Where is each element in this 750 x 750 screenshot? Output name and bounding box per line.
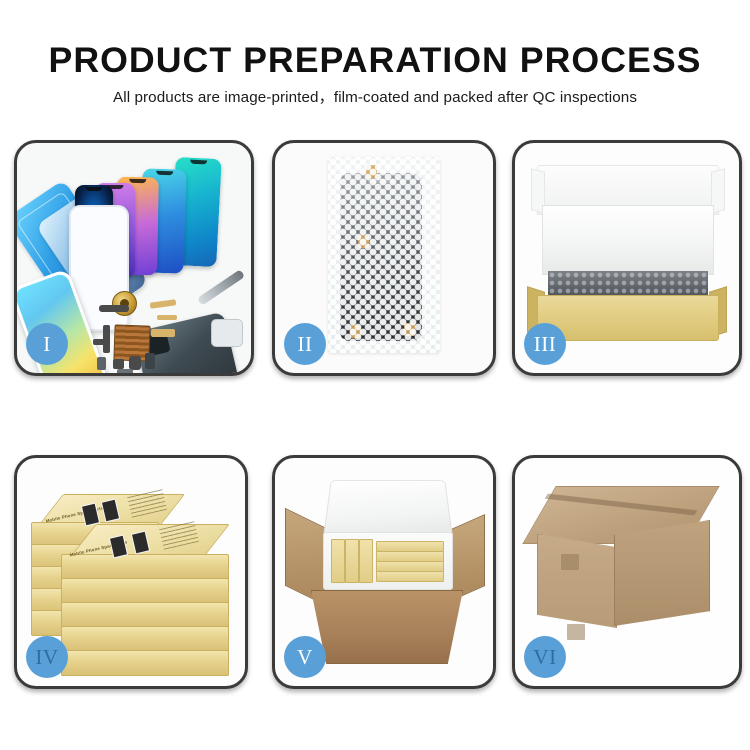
spare-part-10	[145, 353, 155, 369]
spare-part-3	[157, 315, 177, 320]
process-step-card-6[interactable]: VI	[512, 455, 742, 689]
carton-tape-upper	[561, 554, 579, 570]
carton-tape-lower	[567, 624, 585, 640]
spare-part-7	[97, 357, 106, 370]
yellow-box-v2	[345, 539, 359, 583]
foam-cooler-lid	[323, 480, 454, 540]
process-step-card-4[interactable]: Mobile Phone Spare Parts Mobile Phone Sp…	[14, 455, 248, 689]
spare-part-9	[129, 356, 141, 370]
process-step-card-1[interactable]: I	[14, 140, 254, 376]
spare-part-5	[93, 339, 107, 345]
carton-left-face	[537, 534, 617, 628]
step-badge-2: II	[284, 323, 326, 365]
step-badge-1: I	[26, 323, 68, 365]
spare-part-2	[150, 299, 177, 309]
spare-part-1	[99, 305, 129, 312]
step-badge-4: IV	[26, 636, 68, 678]
product-preparation-process-page: PRODUCT PREPARATION PROCESS All products…	[0, 0, 750, 750]
speaker-module-part	[112, 291, 137, 316]
box-edge-f3	[61, 602, 229, 628]
yellow-box-front	[537, 295, 719, 341]
box-edge-f5	[61, 650, 229, 676]
step-badge-5: V	[284, 636, 326, 678]
bubble-texture-highlight	[328, 157, 440, 353]
repair-tool-part	[211, 319, 243, 347]
white-foam-sheet	[542, 205, 714, 275]
carton-body	[311, 590, 463, 664]
spare-part-8	[113, 359, 124, 369]
process-step-card-3[interactable]: III	[512, 140, 742, 376]
step-badge-3: III	[524, 323, 566, 365]
process-step-card-5[interactable]: V	[272, 455, 496, 689]
process-steps-grid: I II	[0, 0, 750, 750]
foam-cooler-body	[323, 532, 453, 590]
carton-right-face	[614, 520, 710, 626]
process-step-card-2[interactable]: II	[272, 140, 496, 376]
box-edge-f4	[61, 626, 229, 652]
spare-part-11	[117, 369, 133, 373]
repair-tweezers-icon	[197, 269, 245, 306]
yellow-box-h4	[376, 571, 444, 582]
step-badge-6: VI	[524, 636, 566, 678]
spare-part-6	[151, 329, 175, 337]
yellow-box-v1	[331, 539, 345, 583]
box-edge-f2	[61, 578, 229, 604]
box-edge-f1	[61, 554, 229, 580]
yellow-box-v3	[359, 539, 373, 583]
bubble-wrap-bag	[328, 157, 440, 353]
